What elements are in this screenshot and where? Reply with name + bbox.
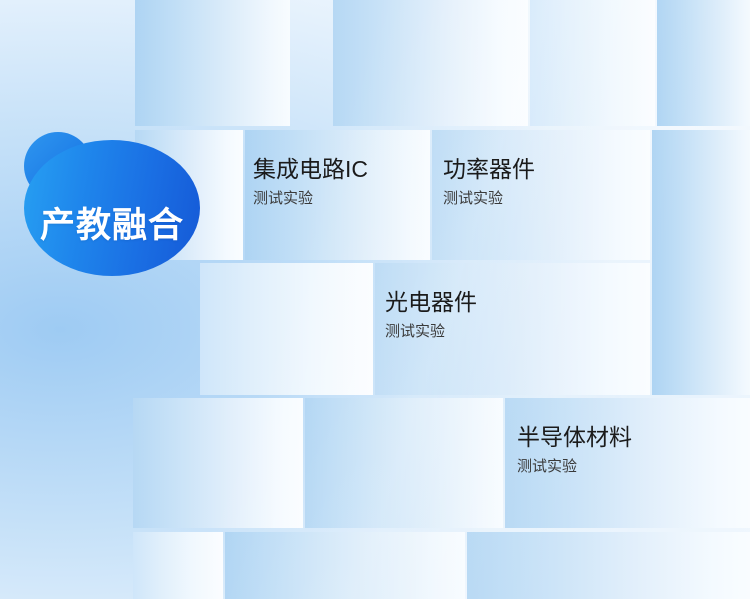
background-tile <box>225 532 465 599</box>
background-tile <box>657 0 750 126</box>
card-title: 集成电路IC <box>253 155 368 184</box>
card-integrated-circuit[interactable]: 集成电路IC 测试实验 <box>253 155 368 210</box>
badge-label: 产教融合 <box>40 208 184 243</box>
card-subtitle: 测试实验 <box>253 188 368 211</box>
card-title: 半导体材料 <box>517 423 632 452</box>
card-optoelectronic-device[interactable]: 光电器件 测试实验 <box>385 288 477 343</box>
card-subtitle: 测试实验 <box>385 321 477 344</box>
card-subtitle: 测试实验 <box>443 188 535 211</box>
background-tile <box>133 532 223 599</box>
brand-badge: 产教融合 <box>12 132 207 277</box>
background-tile <box>133 398 303 528</box>
card-power-device[interactable]: 功率器件 测试实验 <box>443 155 535 210</box>
background-tile <box>530 0 655 126</box>
background-tile <box>200 263 373 395</box>
background-tile <box>305 398 503 528</box>
background-tile <box>333 0 528 126</box>
background-tile <box>652 130 750 395</box>
promo-banner: 产教融合 集成电路IC 测试实验 功率器件 测试实验 光电器件 测试实验 半导体… <box>0 0 750 599</box>
card-semiconductor-material[interactable]: 半导体材料 测试实验 <box>517 423 632 478</box>
background-tile-pattern <box>0 0 750 599</box>
card-title: 功率器件 <box>443 155 535 184</box>
badge-main-circle: 产教融合 <box>24 140 200 276</box>
background-tile <box>135 0 290 126</box>
background-tile <box>467 532 750 599</box>
card-title: 光电器件 <box>385 288 477 317</box>
card-subtitle: 测试实验 <box>517 456 632 479</box>
